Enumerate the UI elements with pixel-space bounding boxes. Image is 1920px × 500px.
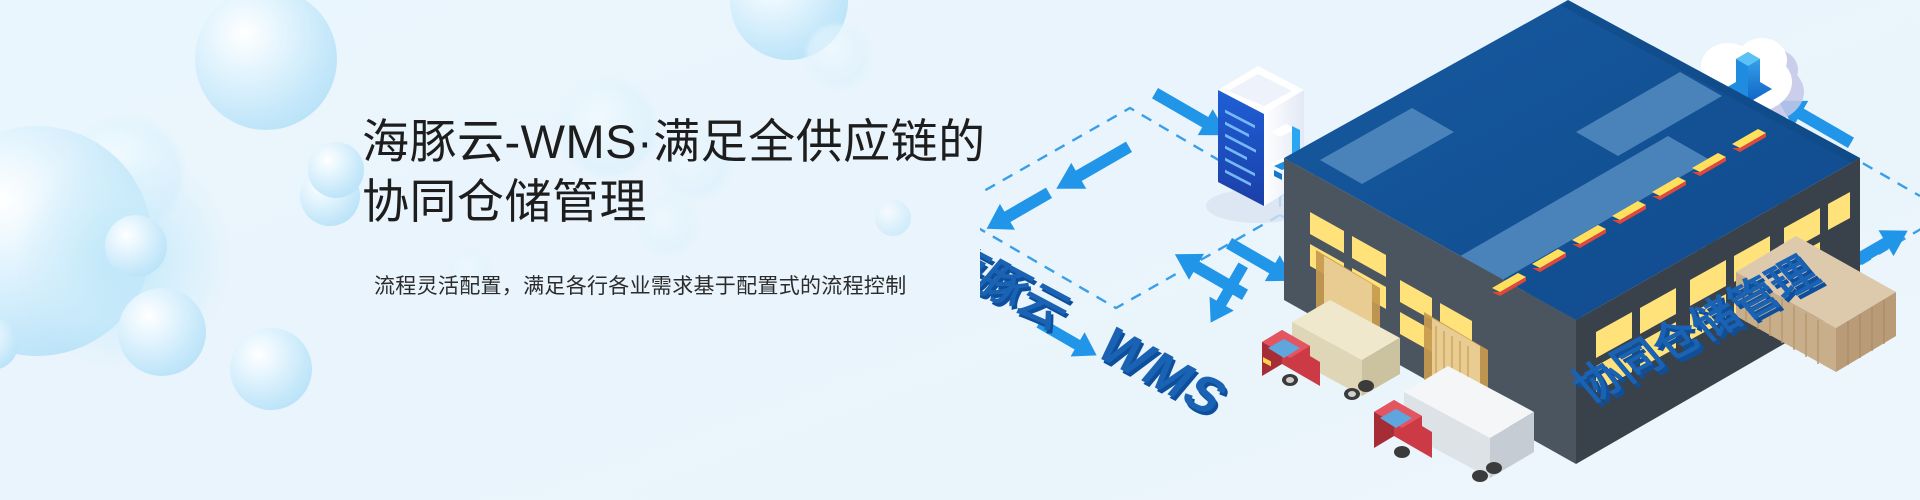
product-3d-text: WMS WMS bbox=[1085, 318, 1243, 430]
bubble-decoration bbox=[230, 328, 312, 410]
bubble-decoration bbox=[730, 0, 848, 60]
brand-3d-text: 海豚云 海豚云 bbox=[980, 232, 1083, 341]
bubble-decoration bbox=[806, 24, 870, 88]
bubble-decoration bbox=[195, 0, 337, 130]
hero-banner: 海豚云-WMS·满足全供应链的 协同仓储管理 流程灵活配置，满足各行各业需求基于… bbox=[0, 0, 1920, 500]
bubble-decoration bbox=[0, 126, 152, 356]
bubble-decoration bbox=[68, 118, 182, 232]
bubble-decoration bbox=[105, 215, 167, 277]
brand-3d-label: 海豚云 bbox=[980, 232, 1081, 337]
warehouse-illustration: 海豚云 海豚云 WMS WMS 协同仓储管理 协同仓储管理 bbox=[980, 0, 1920, 500]
bubble-decoration bbox=[118, 288, 206, 376]
bubble-decoration bbox=[300, 166, 360, 226]
bubble-decoration bbox=[22, 160, 222, 360]
bubble-decoration bbox=[308, 142, 364, 198]
bubble-decoration bbox=[0, 318, 18, 370]
